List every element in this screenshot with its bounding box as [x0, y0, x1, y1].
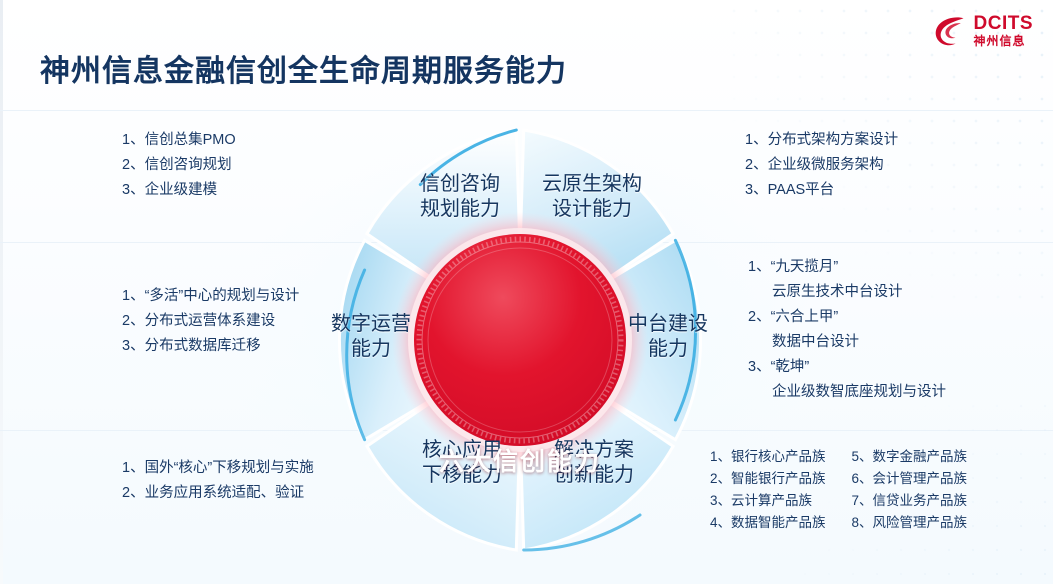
left-edge-strip — [0, 0, 3, 584]
brand-logo: DCITS 神州信息 — [933, 14, 1034, 47]
background-band-1 — [0, 110, 1053, 111]
list-item: 8、风险管理产品族 — [852, 512, 968, 534]
list-item: 1、银行核心产品族 — [710, 446, 826, 468]
list-item: 1、“多活”中心的规划与设计 — [122, 284, 299, 309]
list-item: 3、PAAS平台 — [745, 178, 898, 203]
callout-cloud-native: 1、分布式架构方案设计 2、企业级微服务架构 3、PAAS平台 — [745, 128, 898, 203]
list-item: 2、信创咨询规划 — [122, 153, 236, 178]
page-title: 神州信息金融信创全生命周期服务能力 — [40, 46, 567, 90]
capability-wheel: 信创咨询 规划能力 云原生架构 设计能力 中台建设 能力 解决方案 创新能力 核… — [300, 120, 740, 560]
list-item: 2、企业级微服务架构 — [745, 153, 898, 178]
list-item: 3、企业级建模 — [122, 178, 236, 203]
hub-circle — [414, 234, 626, 446]
list-item: 1、国外“核心”下移规划与实施 — [122, 456, 314, 481]
segment-label-midplatform: 中台建设 能力 — [608, 312, 728, 362]
list-item-sub: 数据中台设计 — [748, 330, 946, 355]
list-item: 2、“六合上甲” — [748, 305, 946, 330]
list-item: 1、“九天揽月” — [748, 255, 946, 280]
logo-text-cn: 神州信息 — [974, 35, 1034, 47]
solution-column-1: 1、银行核心产品族 2、智能银行产品族 3、云计算产品族 4、数据智能产品族 — [710, 446, 826, 534]
list-item: 1、分布式架构方案设计 — [745, 128, 898, 153]
list-item: 2、分布式运营体系建设 — [122, 309, 299, 334]
list-item: 7、信贷业务产品族 — [852, 490, 968, 512]
callout-consulting: 1、信创总集PMO 2、信创咨询规划 3、企业级建模 — [122, 128, 236, 203]
callout-midplatform: 1、“九天揽月” 云原生技术中台设计 2、“六合上甲” 数据中台设计 3、“乾坤… — [748, 255, 946, 405]
list-item: 2、智能银行产品族 — [710, 468, 826, 490]
slide-canvas: 神州信息金融信创全生命周期服务能力 DCITS 神州信息 — [0, 0, 1053, 584]
list-item: 2、业务应用系统适配、验证 — [122, 481, 314, 506]
dcits-swoosh-icon — [933, 15, 967, 47]
hub-label: 六大信创能力 — [300, 442, 740, 478]
logo-text-en: DCITS — [974, 14, 1034, 33]
solution-column-2: 5、数字金融产品族 6、会计管理产品族 7、信贷业务产品族 8、风险管理产品族 — [852, 446, 968, 534]
list-item-sub: 企业级数智底座规划与设计 — [748, 380, 946, 405]
list-item: 3、“乾坤” — [748, 355, 946, 380]
callout-digital-operation: 1、“多活”中心的规划与设计 2、分布式运营体系建设 3、分布式数据库迁移 — [122, 284, 299, 359]
segment-label-digital-operation: 数字运营 能力 — [310, 312, 432, 362]
list-item: 4、数据智能产品族 — [710, 512, 826, 534]
list-item-sub: 云原生技术中台设计 — [748, 280, 946, 305]
list-item: 6、会计管理产品族 — [852, 468, 968, 490]
callout-solution: 1、银行核心产品族 2、智能银行产品族 3、云计算产品族 4、数据智能产品族 5… — [710, 446, 967, 534]
list-item: 3、分布式数据库迁移 — [122, 334, 299, 359]
list-item: 5、数字金融产品族 — [852, 446, 968, 468]
callout-core-app: 1、国外“核心”下移规划与实施 2、业务应用系统适配、验证 — [122, 456, 314, 506]
list-item: 3、云计算产品族 — [710, 490, 826, 512]
segment-label-cloud-native: 云原生架构 设计能力 — [512, 172, 672, 222]
list-item: 1、信创总集PMO — [122, 128, 236, 153]
